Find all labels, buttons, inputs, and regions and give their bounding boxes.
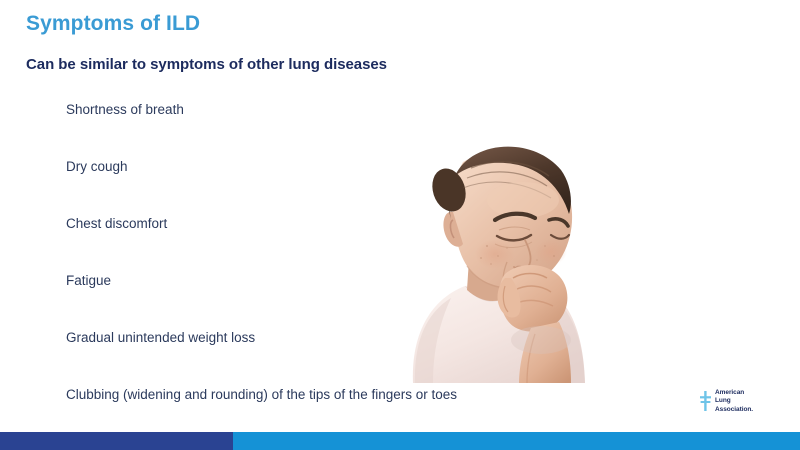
- american-lung-association-logo: American Lung Association.: [700, 389, 753, 414]
- slide-canvas: Symptoms of ILD Can be similar to sympto…: [0, 0, 800, 450]
- logo-wordmark: American Lung Association.: [715, 389, 753, 414]
- lung-cross-icon: [700, 391, 711, 411]
- page-title: Symptoms of ILD: [26, 12, 200, 36]
- footer-bar-segment-blue: [233, 432, 800, 450]
- page-subtitle: Can be similar to symptoms of other lung…: [26, 56, 387, 73]
- logo-line-1: American: [715, 389, 744, 396]
- logo-line-3: Association.: [715, 406, 753, 413]
- footer-bar-segment-navy: [0, 432, 233, 450]
- footer-bar: [0, 432, 800, 450]
- logo-line-2: Lung: [715, 397, 731, 404]
- coughing-woman-photo: Woman coughing into her hand: [355, 128, 625, 383]
